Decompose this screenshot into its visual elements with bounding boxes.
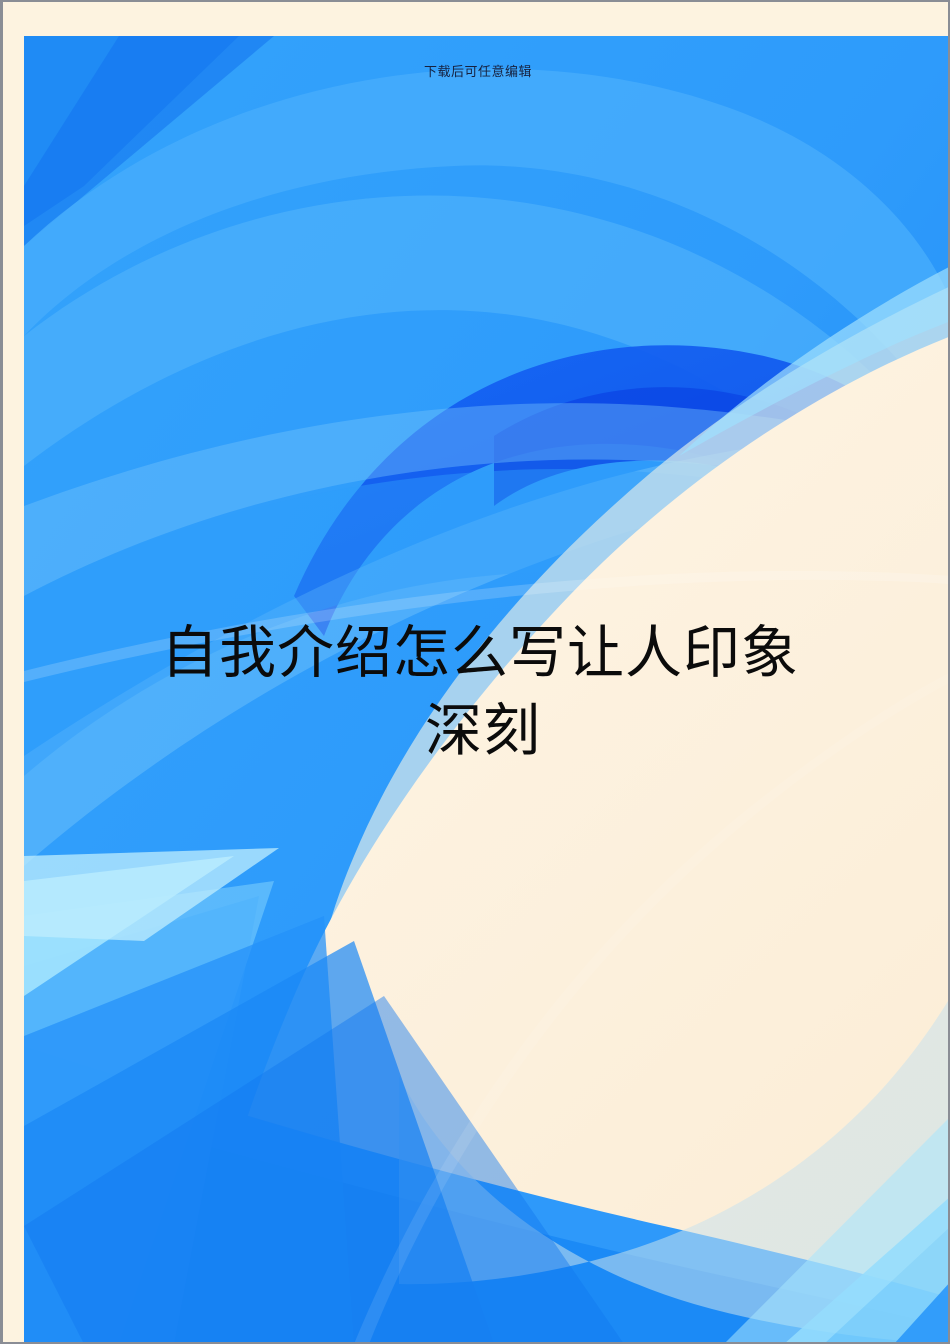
document-cover-page: 下载后可任意编辑 自我介绍怎么写让人印象 深刻 xyxy=(0,0,950,1344)
cover-title-line-2: 深刻 xyxy=(123,692,843,770)
cover-title-line-1: 自我介绍怎么写让人印象 xyxy=(123,614,843,692)
cover-title: 自我介绍怎么写让人印象 深刻 xyxy=(123,614,843,770)
